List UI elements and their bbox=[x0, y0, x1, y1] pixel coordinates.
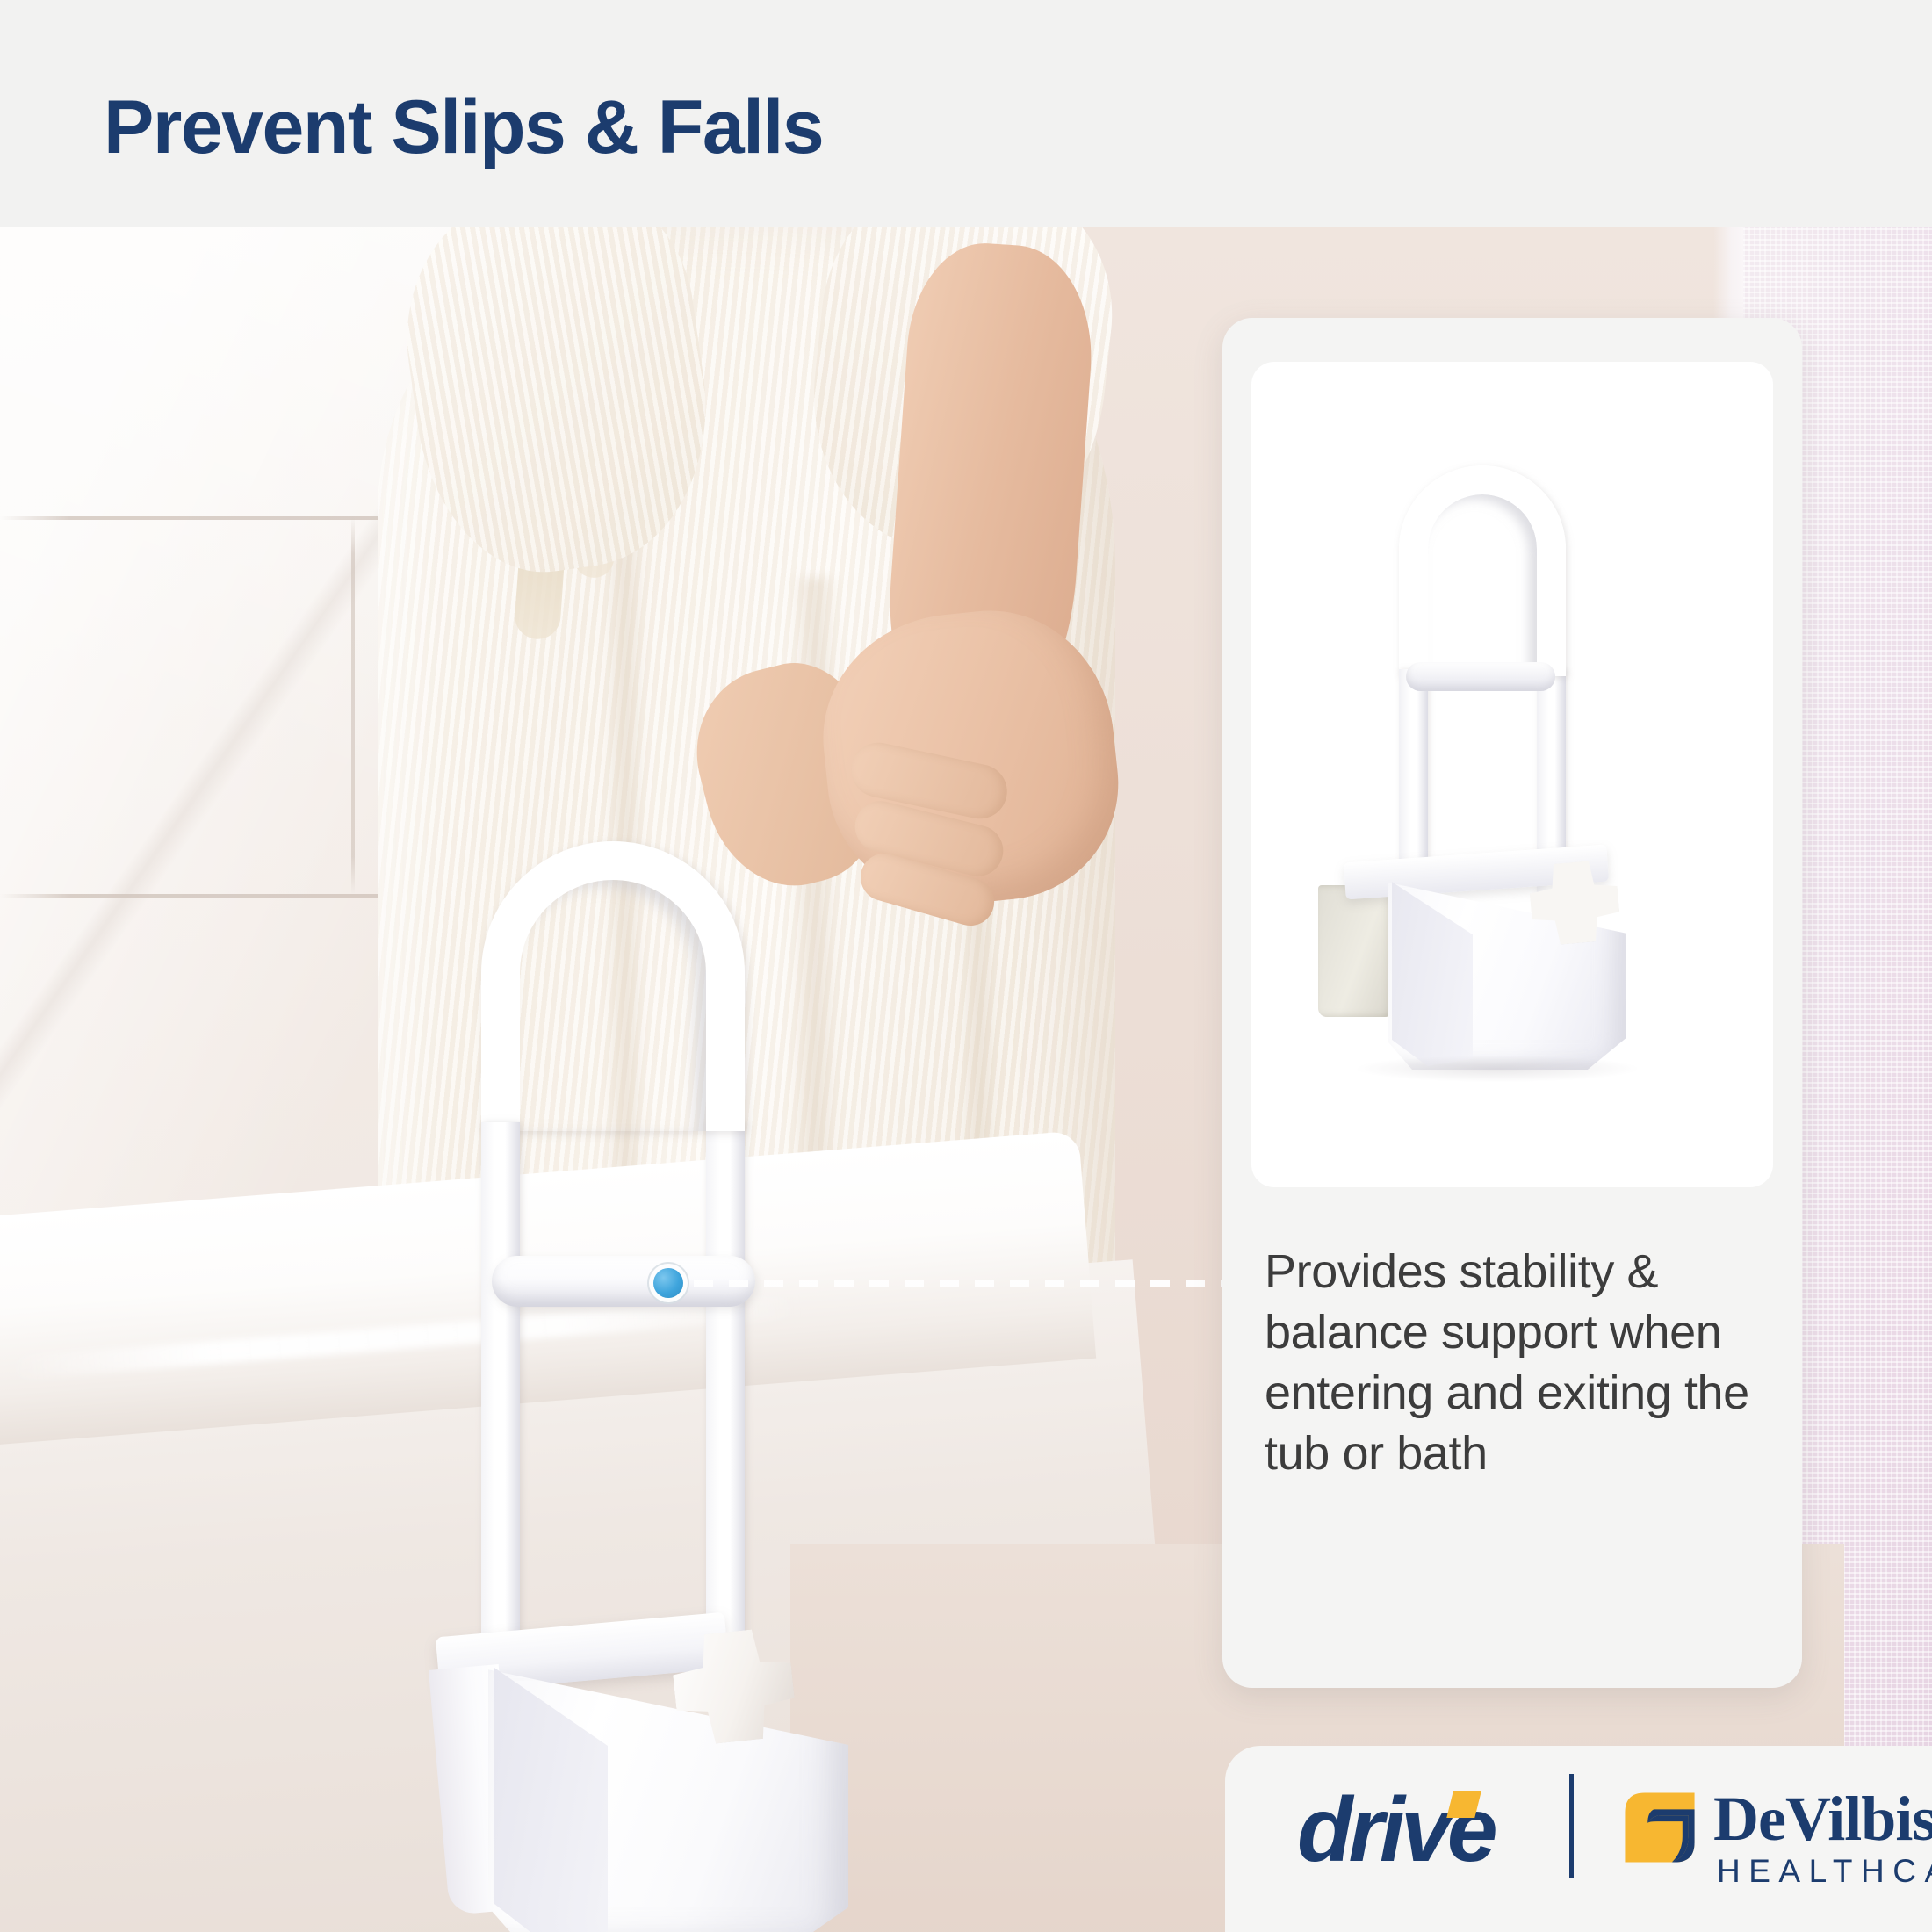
product-drop-shadow bbox=[1357, 1056, 1638, 1082]
brand-logo-bar: drive DeVilbiss® HEALTHCARE bbox=[1225, 1746, 1932, 1932]
grab-bar-arch-handle bbox=[481, 841, 745, 1131]
header-band: Prevent Slips & Falls bbox=[0, 0, 1932, 227]
grab-bar-front-leg bbox=[481, 1122, 520, 1676]
product-crossbar bbox=[1406, 662, 1555, 691]
callout-dashed-connector bbox=[694, 1280, 1229, 1287]
devilbiss-name-text: DeVilbiss bbox=[1713, 1784, 1932, 1854]
product-arch-handle bbox=[1399, 465, 1566, 676]
callout-description: Provides stability & balance support whe… bbox=[1265, 1242, 1763, 1484]
product-image-panel bbox=[1251, 362, 1773, 1187]
devilbiss-wordmark: DeVilbiss® bbox=[1713, 1783, 1932, 1856]
feature-callout-card: Provides stability & balance support whe… bbox=[1222, 318, 1802, 1688]
tile-grout-line bbox=[351, 516, 355, 894]
product-metal-bracket bbox=[1318, 885, 1394, 1017]
logo-divider bbox=[1569, 1774, 1574, 1878]
grab-bar-rear-leg bbox=[706, 1122, 745, 1658]
page-title: Prevent Slips & Falls bbox=[104, 84, 823, 171]
devilbiss-tagline: HEALTHCARE bbox=[1717, 1853, 1932, 1890]
devilbiss-mark-icon bbox=[1622, 1790, 1698, 1865]
highlight-dot-icon bbox=[653, 1268, 683, 1298]
